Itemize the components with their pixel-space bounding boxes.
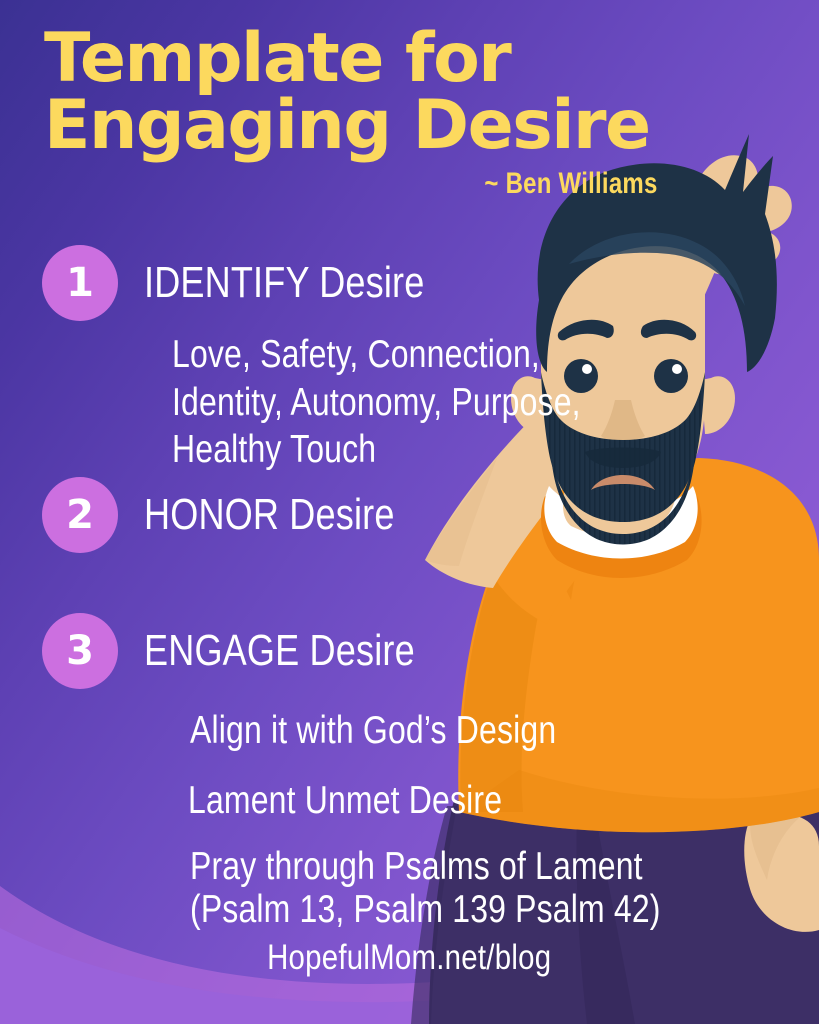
step-3-sub-item: Lament Unmet Desire [188, 777, 660, 825]
step-item-2: 2 HONOR Desire [0, 477, 450, 553]
ear-right [701, 376, 735, 434]
step-number-badge-3: 3 [42, 613, 118, 689]
step-3-sub-list: Align it with God’s Design Lament Unmet … [190, 707, 764, 932]
step-3-sub-item: Align it with God’s Design [190, 707, 661, 755]
sweater-shoulder-fold [539, 478, 613, 600]
step-title-1: IDENTIFY Desire [144, 258, 424, 308]
step-number-badge-2: 2 [42, 477, 118, 553]
collar-white-ring [544, 486, 697, 559]
page-title-line-2: Engaging Desire [44, 93, 704, 160]
poster-canvas: Template for Engaging Desire ~ Ben Willi… [0, 0, 819, 1024]
step-1-header: 1 IDENTIFY Desire [0, 245, 670, 321]
step-3-sub-item: (Psalm 13, Psalm 139 Psalm 42) [190, 889, 661, 932]
eye-right-highlight [672, 364, 682, 374]
step-1-sub-item: Identity, Autonomy, Purpose, [172, 379, 581, 427]
sweater-sleeve-raised [491, 474, 635, 624]
title-block: Template for Engaging Desire ~ Ben Willi… [44, 26, 704, 201]
step-1-sub-list: Love, Safety, Connection, Identity, Auto… [172, 331, 670, 474]
step-1-sub-item: Love, Safety, Connection, [172, 331, 581, 379]
hand-knuckle-shade [698, 194, 741, 246]
mouth-frown [591, 475, 655, 490]
collar-orange-inner [541, 496, 702, 578]
step-item-1: 1 IDENTIFY Desire Love, Safety, Connecti… [0, 245, 670, 474]
step-3-sub-item: Pray through Psalms of Lament [190, 846, 661, 889]
collar-skin-gap [563, 480, 676, 536]
scratching-hand [690, 155, 792, 274]
page-title-line-1: Template for [44, 26, 704, 93]
footer-website-url[interactable]: HopefulMom.net/blog [0, 938, 819, 978]
step-number-badge-1: 1 [42, 245, 118, 321]
footer-website-url-text: HopefulMom.net/blog [267, 938, 551, 978]
step-title-2: HONOR Desire [144, 490, 395, 540]
author-byline: ~ Ben Williams [176, 167, 704, 201]
step-3-header: 3 ENGAGE Desire [0, 613, 764, 689]
step-title-3: ENGAGE Desire [144, 626, 415, 676]
step-1-sub-item: Healthy Touch [172, 426, 581, 474]
step-2-header: 2 HONOR Desire [0, 477, 450, 553]
step-item-3: 3 ENGAGE Desire Align it with God’s Desi… [0, 613, 764, 932]
